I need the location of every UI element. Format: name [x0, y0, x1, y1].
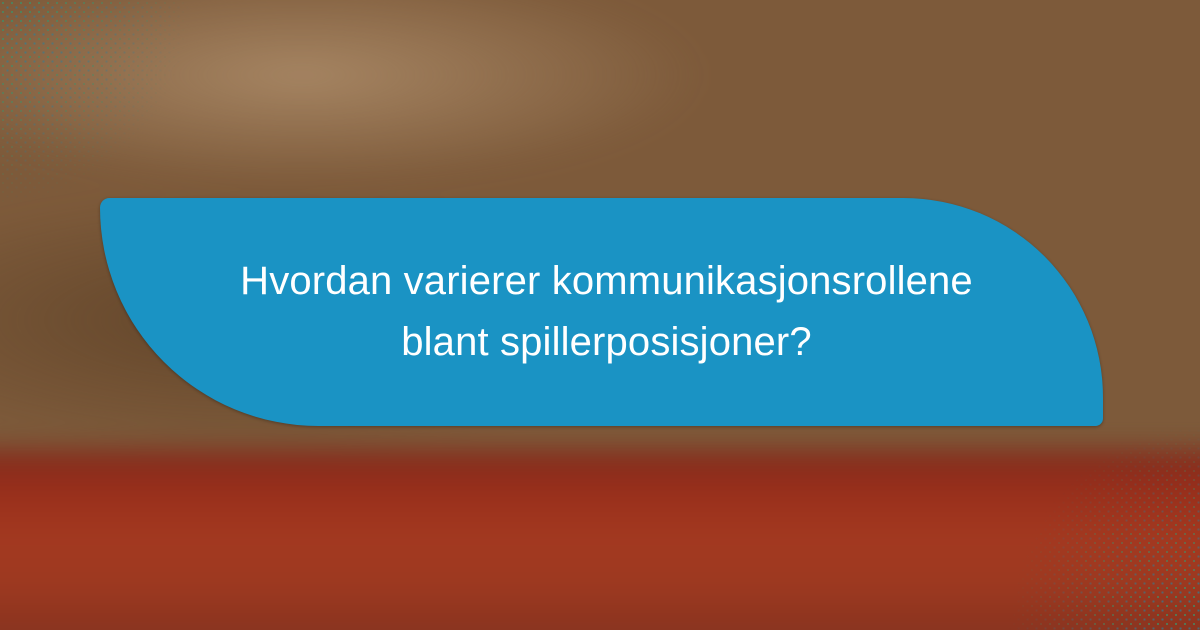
page-title: Hvordan varierer kommunikasjonsrollene b…: [240, 251, 973, 373]
headline-line-1: Hvordan varierer kommunikasjonsrollene: [240, 259, 973, 303]
headline-banner-inner: Hvordan varierer kommunikasjonsrollene b…: [220, 198, 993, 426]
share-card: Hvordan varierer kommunikasjonsrollene b…: [0, 0, 1200, 630]
headline-line-2: blant spillerposisjoner?: [240, 312, 973, 373]
headline-banner: Hvordan varierer kommunikasjonsrollene b…: [100, 198, 1103, 426]
ground-highlight: [0, 0, 720, 190]
brick-stand-wall: [0, 450, 1200, 630]
